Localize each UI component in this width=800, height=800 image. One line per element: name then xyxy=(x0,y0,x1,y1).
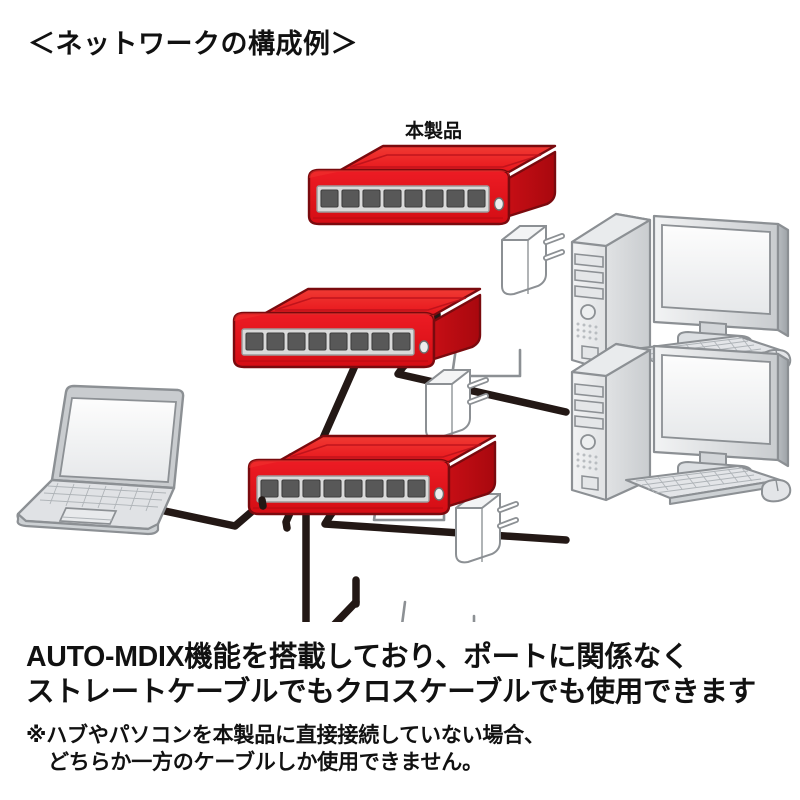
caption-note: ※ハブやパソコンを本製品に直接接続していない場合、 どちらか一方のケーブルしか使… xyxy=(26,722,786,777)
page-root: ＜ネットワークの構成例＞ xyxy=(0,0,800,800)
caption-main: AUTO-MDIX機能を搭載しており、ポートに関係なく ストレートケーブルでもク… xyxy=(26,640,786,711)
cable-laptop-to-bottom-switch xyxy=(160,502,263,526)
ac-adapter-middle xyxy=(426,370,486,438)
caption-main-line-1: AUTO-MDIX機能を搭載しており、ポートに関係なく xyxy=(26,640,786,675)
caption-note-line-1: ※ハブやパソコンを本製品に直接接続していない場合、 xyxy=(26,722,786,749)
ac-adapter-top xyxy=(502,226,562,294)
switch-bottom[interactable] xyxy=(249,436,495,514)
switch-middle[interactable] xyxy=(234,289,480,367)
caption-main-line-2: ストレートケーブルでもクロスケーブルでも使用できます xyxy=(26,675,786,710)
ac-adapter-bottom xyxy=(456,494,516,562)
power-cable-bottom xyxy=(400,602,474,622)
caption-note-line-2: どちらか一方のケーブルしか使用できません。 xyxy=(26,749,786,776)
laptop xyxy=(18,386,183,534)
network-diagram xyxy=(0,92,800,622)
switch-top[interactable] xyxy=(309,146,555,224)
desktop-pc-bottom xyxy=(572,344,790,504)
label-product: 本製品 xyxy=(405,116,462,143)
page-title: ＜ネットワークの構成例＞ xyxy=(28,22,358,61)
